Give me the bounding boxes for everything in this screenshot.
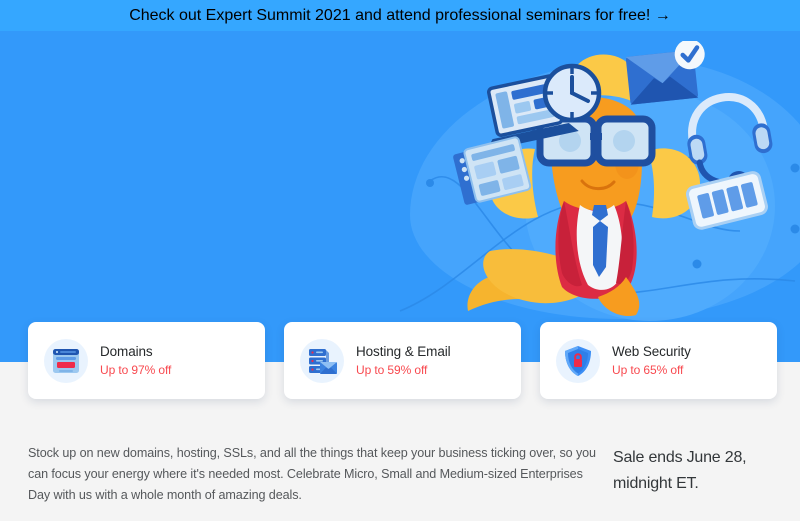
- clock-icon: [545, 66, 599, 120]
- card-domains[interactable]: Domains Up to 97% off: [28, 322, 265, 399]
- feature-cards: Domains Up to 97% off: [28, 322, 777, 399]
- promo-paragraph: Stock up on new domains, hosting, SSLs, …: [28, 443, 598, 506]
- card-text-hosting-email: Hosting & Email Up to 59% off: [356, 344, 451, 377]
- hero-section: [0, 31, 800, 362]
- card-web-security[interactable]: Web Security Up to 65% off: [540, 322, 777, 399]
- browser-window-icon: [44, 339, 88, 383]
- card-title: Hosting & Email: [356, 344, 451, 359]
- card-text-domains: Domains Up to 97% off: [100, 344, 171, 377]
- card-discount: Up to 97% off: [100, 363, 171, 377]
- card-hosting-email[interactable]: Hosting & Email Up to 59% off: [284, 322, 521, 399]
- announcement-link[interactable]: Check out Expert Summit 2021 and attend …: [129, 7, 671, 25]
- card-title: Web Security: [612, 344, 691, 359]
- card-text-web-security: Web Security Up to 65% off: [612, 344, 691, 377]
- hero-illustration: [430, 41, 800, 341]
- card-discount: Up to 59% off: [356, 363, 451, 377]
- announcement-bar: Check out Expert Summit 2021 and attend …: [0, 0, 800, 31]
- card-discount: Up to 65% off: [612, 363, 691, 377]
- bottom-section: Stock up on new domains, hosting, SSLs, …: [0, 432, 800, 521]
- page-root: Check out Expert Summit 2021 and attend …: [0, 0, 800, 521]
- announcement-link-text: Check out Expert Summit 2021 and attend …: [129, 7, 650, 24]
- server-envelope-icon: [300, 339, 344, 383]
- shield-lock-icon: [556, 339, 600, 383]
- card-title: Domains: [100, 344, 171, 359]
- envelope-check-icon: [624, 41, 709, 105]
- sale-end-text: Sale ends June 28, midnight ET.: [613, 445, 783, 497]
- arrow-right-icon: →: [655, 7, 671, 24]
